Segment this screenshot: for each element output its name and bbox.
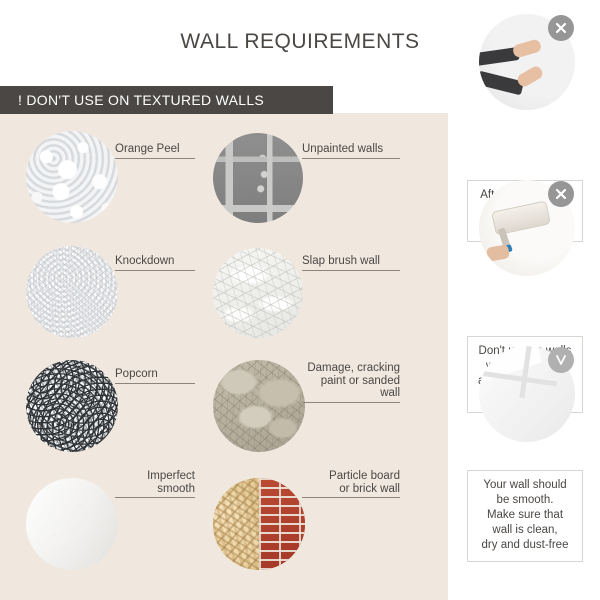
texture-swatch-slap-brush-wall xyxy=(213,248,303,338)
texture-label-orange-peel: Orange Peel xyxy=(115,143,195,159)
texture-label-knockdown: Knockdown xyxy=(115,255,195,271)
warning-banner-label: ! DON'T USE ON TEXTURED WALLS xyxy=(0,92,264,108)
texture-item-particle-or-brick[interactable]: Particle board or brick wall xyxy=(0,0,92,92)
texture-label-popcorn: Popcorn xyxy=(115,368,195,384)
texture-swatch-popcorn xyxy=(26,360,118,452)
texture-label-damage-cracking: Damage, cracking paint or sanded wall xyxy=(302,362,400,403)
arm-lower xyxy=(479,71,524,96)
texture-swatch-orange-peel xyxy=(26,131,118,223)
brick-wall-half xyxy=(259,478,305,570)
texture-label-imperfect-smooth: Imperfect smooth xyxy=(115,470,195,498)
hand-lower xyxy=(515,64,544,88)
texture-label-unpainted-walls: Unpainted walls xyxy=(302,143,400,159)
texture-swatch-knockdown xyxy=(26,246,118,338)
texture-swatch-imperfect-smooth xyxy=(26,478,118,570)
texture-swatch-particle-or-brick xyxy=(213,478,305,570)
texture-swatch-unpainted-walls xyxy=(213,133,303,223)
texture-label-particle-or-brick: Particle board or brick wall xyxy=(302,470,400,498)
x-icon xyxy=(548,15,574,41)
check-icon xyxy=(548,347,574,373)
texture-label-slap-brush-wall: Slap brush wall xyxy=(302,255,400,271)
side-panel-text-smooth-clean-wall: Your wall should be smooth. Make sure th… xyxy=(467,470,583,562)
particle-board-half xyxy=(213,478,259,570)
x-icon xyxy=(548,181,574,207)
hand-holding-roller xyxy=(486,244,510,262)
texture-swatch-damage-cracking xyxy=(213,360,305,452)
hand-upper xyxy=(512,38,542,58)
